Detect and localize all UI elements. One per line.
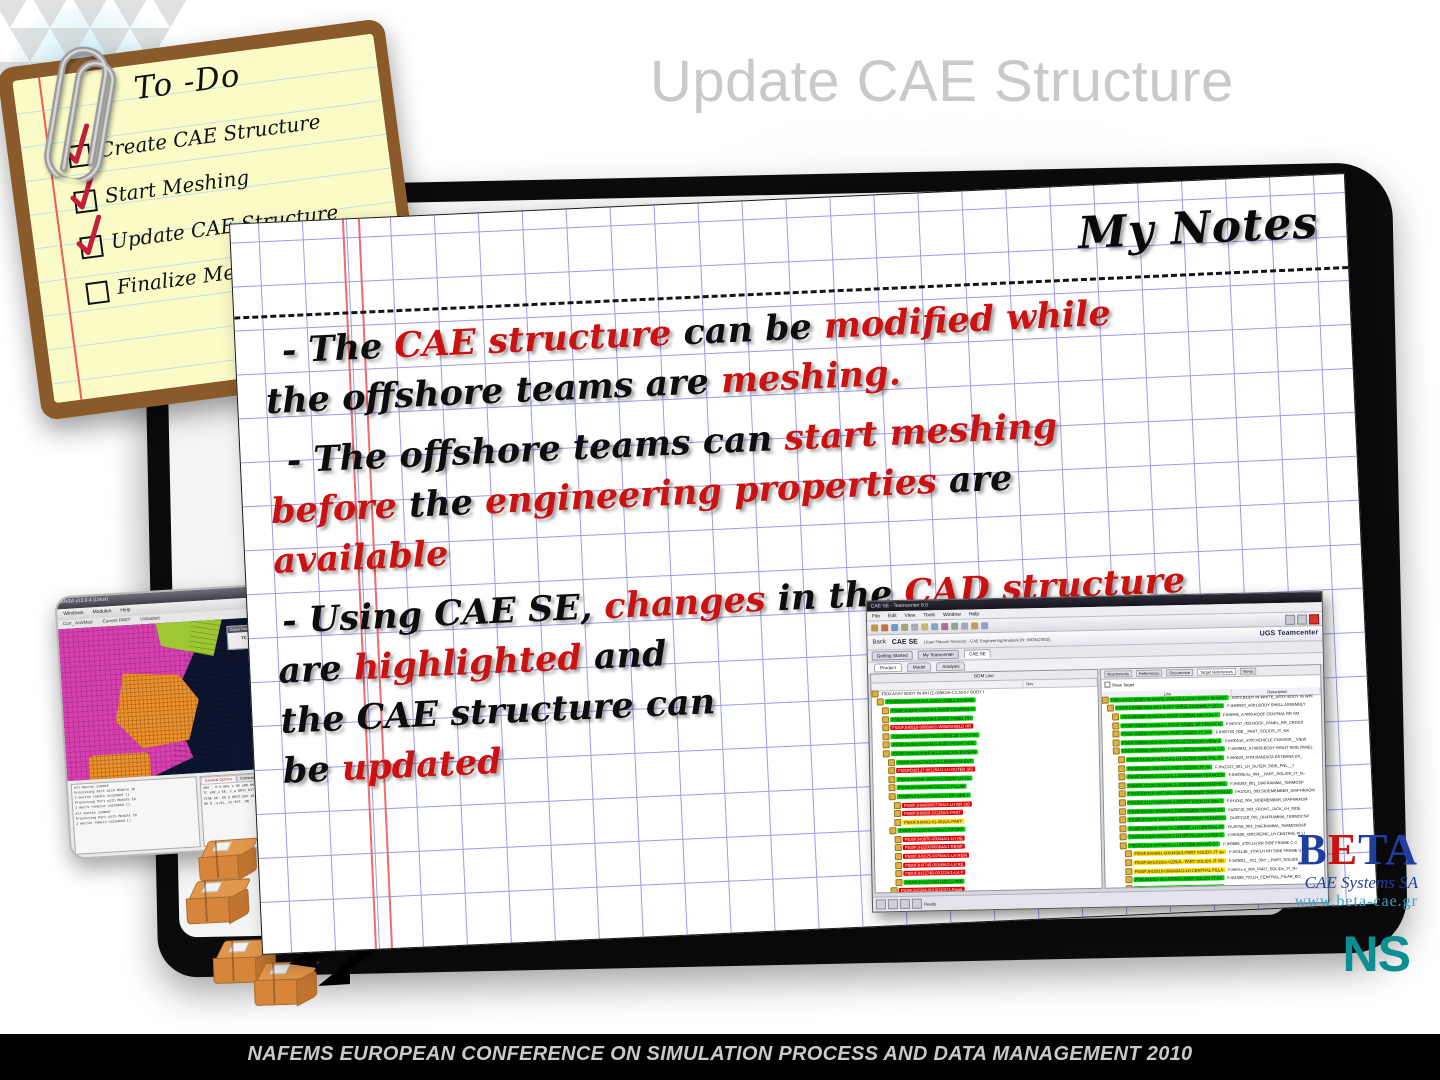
tc-tree-row-label: F500FA0857-00678A/1-PART SOLIDS JT_N- [1126,764,1213,771]
tc-tree-row-label: F500FJH0866-00104A/1-VEHICLE CHASSIS VIE… [1120,738,1222,745]
tc-node-icon [1125,876,1132,883]
tc-tree-row-description: FJH10q2_004_SIDEMEMBER_DIAPHRAGM [1224,796,1308,803]
tc-node-icon [882,733,889,740]
tc-tree-row-label: F500FJH3210/00129BA/1-RIFORI/ [897,827,965,833]
tc-tree-row-label: F500FJH0861/00597BA/1-VEHICLE CHASSIS [890,732,979,739]
tc-tree-row-label: F500FJH0752-00050A/1-DIAFRAMMA TERMOSRS [1127,807,1226,814]
tc-node-icon [1118,765,1125,772]
tc-status-icon-2[interactable] [888,899,898,909]
tc-tree-row-description: FJH00750_008__PART_SOLIDS_JT_NX [1213,728,1290,735]
note-seg: and [581,633,668,678]
footer-text: NAFEMS EUROPEAN CONFERENCE ON SIMULATION… [0,1043,1440,1066]
tc-minimize-button[interactable] [1285,615,1295,625]
tc-node-icon [1112,722,1119,729]
tc-tree-row-label: F500FJH3200/00084A/1-REINF [903,844,965,850]
tc-node-icon [877,699,884,706]
slide-canvas: Update CAE Structure ANSA v13.0.4 (Linux… [0,0,1440,1080]
tc-node-icon [1119,834,1126,841]
tc-menu-view[interactable]: View [905,613,916,618]
tc-app-subtitle: (Joan Flaconi Session) - CAE Engineering… [924,636,1050,644]
tc-tree-row-label: F500FJH0491-01-4510/1-PART [902,818,964,824]
tc-tree-row-label: F500FJH10816-000849A/1-LH CENTRAL PILLA [1133,867,1225,874]
tc-node-icon [895,879,902,886]
tc-tree-row-label: F500FJH28137-00125A/1-LH OUTER SIDE PNL … [1125,755,1224,762]
ansa-menu-modules[interactable]: Modules [92,608,111,616]
tc-node-icon [1118,791,1125,798]
beta-logo-e: E [1328,825,1358,874]
footer-bar: NAFEMS EUROPEAN CONFERENCE ON SIMULATION… [0,1034,1440,1080]
tc-copy-icon[interactable] [911,624,918,631]
tc-tree-row-description: FJHx2137_001_LH_OUTER_SIDE_PNL__J [1212,762,1294,769]
tc-tree-row-label: F500FJH0832/00654A/1-BODY RIGHT SIDE [891,741,977,748]
tc-tree-row-label: F500FA0852/00952A/1-BODY SHELL ASSEMB [885,698,976,705]
tc-node-icon [1112,748,1119,755]
tc-show-target-checkbox[interactable] [1104,682,1110,688]
note-seg-highlight: changes [603,579,766,627]
note-seg-highlight: modified while [823,293,1112,347]
note-seg: can be [670,306,824,354]
tc-tree-row-label: F500FJH2264-001/01101/1-Panel [899,887,965,892]
todo-checkbox[interactable] [85,280,110,305]
note-seg: are [936,457,1013,501]
teamcenter-bom-pane[interactable]: BOM Line Rev F500-ASSY BODY IN WH (Z-009… [870,669,1102,894]
ansa-log-panel[interactable]: All macros zoomed Processing Part with M… [71,776,201,855]
tc-tree-row-label: F500J0h0850-00592A/1-ROOF CNTRAL RR COM … [1120,712,1220,719]
tc-node-icon [895,862,902,869]
note-seg: - The [281,325,395,371]
tc-tab-my-teamcenter[interactable]: My Teamcenter [918,650,960,660]
tc-new-icon[interactable] [871,624,878,631]
tc-tree-row-label: F500FJH0857/00125A/1-RANDATA EST [896,758,974,765]
tc-window-buttons[interactable] [1285,614,1319,625]
tc-node-icon [1125,859,1132,866]
tc-node-icon [883,742,890,749]
tc-tree-row-label: F500FJH0489-00692/0;1-LH RR PILLAR OUTER… [1127,833,1225,840]
tc-menu-edit[interactable]: Edit [888,613,897,618]
tc-tree-row-label: F500FJH0950A-00807A-2;REINF_LH CENTRAL P… [1127,824,1225,831]
tc-node-icon [1112,731,1119,738]
beta-logo-t: T [1358,825,1385,874]
tc-tree-row-label: F500FJH0998-00596A/1-ROOF CENTRAL R [890,706,976,713]
tc-node-icon [1118,782,1125,789]
tc-search-icon[interactable] [941,623,948,630]
tc-tree-row-description: FJH09832_A70639;BODY RIGHT SIDE PANEL [1225,745,1313,752]
tc-node-icon [888,784,895,791]
notes-header-title: My Notes [1077,197,1319,259]
todo-title: To -Do [132,57,243,107]
note-seg-highlight: available [272,533,449,582]
tc-tab-references[interactable]: References [1136,669,1163,677]
tc-tree-row-description: FJH00920_A001;BODY SHELL ASSEMBLY [1224,702,1305,709]
tc-lock-icon[interactable] [971,622,978,629]
beta-logo-url: www.beta-cae.gr [1268,894,1418,910]
tc-tab-target-references[interactable]: Target References [1197,668,1236,676]
tc-tree-row-label: F500FJH73106-1009298/1-DIAFRAMMA TERMOSS [1127,815,1227,822]
tc-tree-row-label: F500FJH0747/00820A/1-ROOF PANEL RR [890,715,973,722]
tc-tree-row-label: F500FJH2274B-00122A/1-LH P [903,870,965,876]
tc-node-icon [1119,808,1126,815]
tc-tree-row-label: F500FJH0x0192x-0225/A - PART SOLIDS JT R… [1133,858,1226,865]
tc-tree-row-label: F500FJH94891-000349A/1-PART SOLIDS JT re… [1132,850,1226,857]
tc-node-icon [894,810,901,817]
tc-tree-row-description: OUS07118_001_DIAFRAMMA_TERMOCSP [1227,814,1310,821]
note-seg: the [396,481,486,526]
tc-node-icon [1112,713,1119,720]
tc-tab-attachments[interactable]: Attachments [1104,670,1132,678]
tc-tree-row-description: FJH0995_A7009;ROOF CENTRAL RR GM [1220,711,1300,718]
tc-properties-icon[interactable] [961,623,968,630]
tc-tree-row-label: F500Fx2014-00708A/1-LH RR SIDE FRAME CO [1127,841,1220,848]
tc-tree-row-label: F500FJH1025-00758A/1-LH REIN [903,853,969,859]
tc-maximize-button[interactable] [1297,614,1307,624]
tc-status-icon-3[interactable] [900,899,910,909]
tc-tree-row-label: F500FJH0745-00188A/1-LH RE [903,861,965,867]
note-seg-highlight: before [270,485,398,532]
tc-tree-row-label: F500FJH0510-007128A/1-PART SOLIDS JT_NX [1120,730,1213,737]
tc-menu-window[interactable]: Window [943,612,961,617]
tc-tab-views[interactable]: Views [1240,668,1257,675]
my-notes-page: My Notes - The CAE structure can be modi… [229,173,1378,955]
tc-node-icon [883,750,890,757]
note-seg: be [282,748,343,792]
tc-tree-row-description: ASSY;BODY IN WHITE_ASSY BODY IN WHI [1228,693,1312,700]
tc-node-icon [882,707,889,714]
tc-tree-row-label: F500FJH0489/00739A/1-LH RR SID [902,801,972,807]
tc-tree-row-label: F500JH1010-003-RRW01-PART SOLIDS JT.NX [1133,875,1224,882]
tc-tree-row-description: FJH00510_4700;VEHICLE CHASSIS__VIEW [1222,736,1306,743]
tc-node-icon [894,819,901,826]
tc-tree-row-label: F500FA-10101-001194A-2;SIDE MEMBER DIAPH… [1126,781,1227,788]
tc-brand-label: UGS Teamcenter [1260,629,1319,637]
package-box [253,961,316,1007]
ansa-subbar-unloaded: Unloaded [140,615,160,623]
tc-show-target-label: Show Target [1112,682,1134,687]
tc-node-icon [1119,825,1126,832]
teamcenter-window[interactable]: CAE SE - Teamcenter 8.0 File Edit View T… [866,591,1329,913]
tc-bom-tree[interactable]: F500-ASSY BODY IN WH (Z-00962/A-C1;ASSY … [871,685,1101,893]
package-box [185,878,249,925]
tc-tree-row-label: F500FJH0876-00044A/1-LH RE [903,836,965,842]
tc-open-icon[interactable] [881,624,888,631]
tc-tree-row-label: F500FJH0489/00607A/1-LH PILLAR [896,784,967,790]
tc-node-icon [1125,885,1132,888]
tc-tree-row-label: F500FJH0849-00607A/1-REINF LH CE [896,775,972,782]
tc-tree-row-label: F500FJH0449-000 RQ/A-1-DIAFRAMMA TERMOEX [1126,772,1226,779]
ansa-menu-windows[interactable]: Windows [63,610,84,618]
tc-tree-row-label: F500FA2014-00230A/1-LH RR SIDE F [897,792,971,799]
tc-tab-getting-started[interactable]: Getting Started [872,651,913,661]
tc-tree-row-description: FJH0633_4704;RANDATA ESTERNA DX_ [1224,754,1303,761]
todo-checkbox[interactable] [79,235,104,260]
tc-tree-row-description: FJH0005;no_004__PART_SOLIDS_JT_N~ [1226,771,1306,778]
tc-node-icon [891,888,898,893]
tc-tab-cae-se[interactable]: CAE SE [964,649,991,659]
tc-status-icon-1[interactable] [876,899,886,909]
tc-node-icon [895,844,902,851]
tc-tree-row-description: FA28710_003_FRONT_JACK_LH_SIDE [1225,805,1300,812]
tc-node-icon [894,802,901,809]
note-seg-highlight: start meshing [783,405,1058,458]
tc-checkout-icon[interactable] [981,622,988,629]
tc-paste-icon[interactable] [921,623,928,630]
ns-wordmark: NS [1343,925,1410,983]
tc-node-icon [882,716,889,723]
teamcenter-panes: BOM Line Rev F500-ASSY BODY IN WH (Z-009… [868,662,1328,895]
tc-save-icon[interactable] [891,624,898,631]
note-seg: are [277,648,354,692]
note-seg-highlight: meshing. [720,352,902,401]
tc-node-icon [888,759,895,766]
beta-cae-logo: BETA CAE Systems SA www.beta-cae.gr [1268,828,1418,910]
tc-node-icon [1118,799,1125,806]
tc-node-icon [882,724,889,731]
tc-node-icon [888,767,895,774]
beta-logo-b: B [1297,825,1327,874]
ansa-menu-help[interactable]: Help [120,607,131,615]
tc-node-icon [1101,696,1108,703]
tc-status-icon-4[interactable] [912,899,922,909]
tc-menu-file[interactable]: File [872,613,880,618]
tc-tree-row-description: FJH0493_001_DIAFRAMMA_TERMOSP [1227,779,1303,786]
tc-node-icon [895,836,902,843]
tc-node-icon [888,776,895,783]
page-title: Update CAE Structure [650,52,1410,113]
tc-cut-icon[interactable] [901,624,908,631]
tc-node-icon [1117,756,1124,763]
note-seg-highlight: CAE structure [393,313,672,367]
tc-node-icon [1119,842,1126,849]
tc-tree-row-label: F500FJH0547-00295A/1-ROOF PANEL SR CROSS… [1120,721,1223,728]
beta-logo-a: A [1385,825,1418,874]
package-box [197,838,257,882]
tc-node-icon [1118,773,1125,780]
tc-node-icon [1124,851,1131,858]
note-seg-highlight: updated [341,741,503,789]
tc-tree-row-label: F500FA-2014-000528A-1-LH REAR PR/APPRX [1133,884,1224,888]
tc-node-icon [1125,868,1132,875]
tc-close-button[interactable] [1309,614,1319,624]
tc-tree-row-description: FA10101_003;SIDEMEMBER_DIAPHRAGM [1232,788,1314,795]
todo-checkbox[interactable] [73,189,98,214]
tc-node-icon [871,690,878,697]
tc-node-icon [1112,739,1119,746]
tc-app-name: CAE SE [892,638,918,646]
tc-node-icon [1106,705,1113,712]
tc-tree-row-label: F500FA-0117-0428/00A-1;FRONT LOCK LH Sid… [1126,798,1223,805]
tc-back-button[interactable]: Back [872,639,885,645]
tc-refresh-icon[interactable] [931,623,938,630]
tc-menu-tools[interactable]: Tools [923,612,935,617]
tc-tree-row-label: F500FD28137-00125A/1-LH OUTER SID [896,767,975,774]
beta-logo-wordmark: BETA [1268,828,1418,872]
tc-tree-row-label: F500FJH0633-00847A/1-FIANCATA ESTERN [891,749,978,756]
tc-status-text: Ready [924,901,936,906]
beta-logo-subtitle: CAE Systems SA [1268,874,1418,891]
tc-node-icon [1119,816,1126,823]
tc-tree-row-label: F500FJH0510-00060A/1-WINDSHIELD RR [890,724,973,731]
tc-print-icon[interactable] [951,623,958,630]
tc-node-icon [889,827,896,834]
tc-tree-row-description: FJH0747_002;ROOF_PANEL_RR_CROSS [1223,719,1303,726]
tc-tab-occurrence[interactable]: Occurrence [1166,669,1193,677]
tc-node-icon [895,870,902,877]
tc-tree-row-label: F500FJH0889-10125A/1-PART [902,810,963,816]
tc-tree-row-label: F500FJH1027/002125/0;1-PAR [903,879,964,885]
note-seg-highlight: highlighted [353,637,583,688]
tc-menu-help[interactable]: Help [969,611,979,616]
tc-node-icon [889,793,896,800]
tc-node-icon [895,853,902,860]
